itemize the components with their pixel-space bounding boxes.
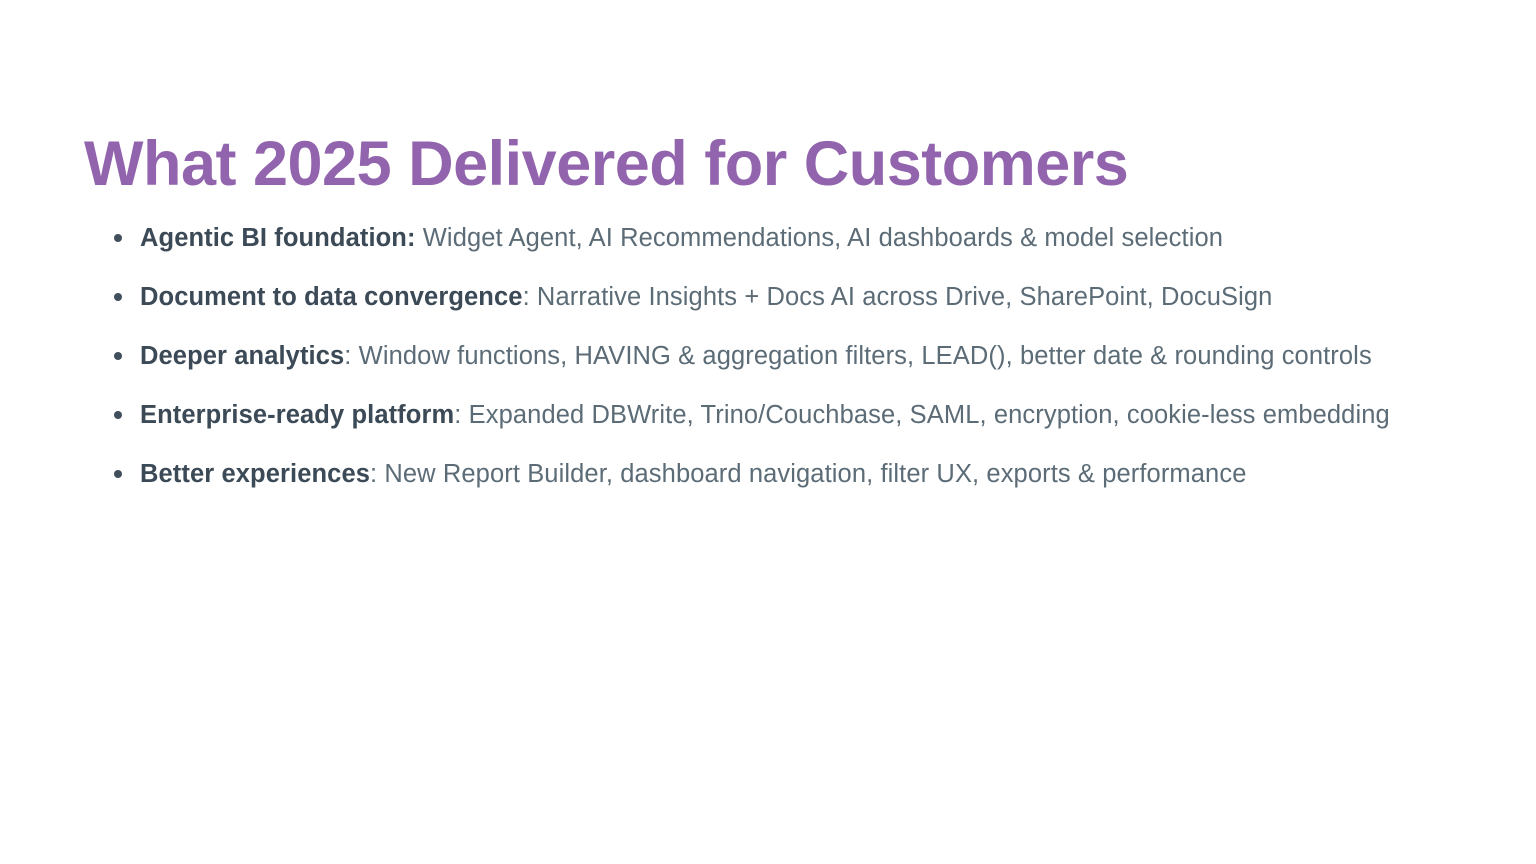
presentation-slide: What 2025 Delivered for Customers Agenti… [0, 0, 1536, 864]
bullet-dot-icon [114, 234, 122, 242]
bullet-dot-icon [114, 352, 122, 360]
list-item: Document to data convergence: Narrative … [108, 271, 1398, 323]
list-item-lead: Document to data convergence [140, 283, 523, 311]
bullet-dot-icon [114, 470, 122, 478]
list-item-lead: Deeper analytics [140, 342, 344, 370]
list-item: Agentic BI foundation: Widget Agent, AI … [108, 212, 1398, 264]
list-item: Deeper analytics: Window functions, HAVI… [108, 330, 1398, 382]
list-item-text: : Window functions, HAVING & aggregation… [344, 342, 1372, 370]
list-item-lead: Agentic BI foundation: [140, 224, 416, 252]
list-item-lead: Enterprise-ready platform [140, 401, 454, 429]
list-item-text: : Narrative Insights + Docs AI across Dr… [523, 283, 1273, 311]
list-item-text: Widget Agent, AI Recommendations, AI das… [416, 224, 1223, 252]
list-item: Better experiences: New Report Builder, … [108, 448, 1398, 500]
list-item-text: : Expanded DBWrite, Trino/Couchbase, SAM… [454, 401, 1390, 429]
list-item-text: : New Report Builder, dashboard navigati… [370, 460, 1246, 488]
feature-bullet-list: Agentic BI foundation: Widget Agent, AI … [108, 212, 1398, 507]
list-item-lead: Better experiences [140, 460, 370, 488]
bullet-dot-icon [114, 293, 122, 301]
bullet-dot-icon [114, 411, 122, 419]
list-item: Enterprise-ready platform: Expanded DBWr… [108, 389, 1398, 441]
page-title: What 2025 Delivered for Customers [84, 130, 1454, 199]
